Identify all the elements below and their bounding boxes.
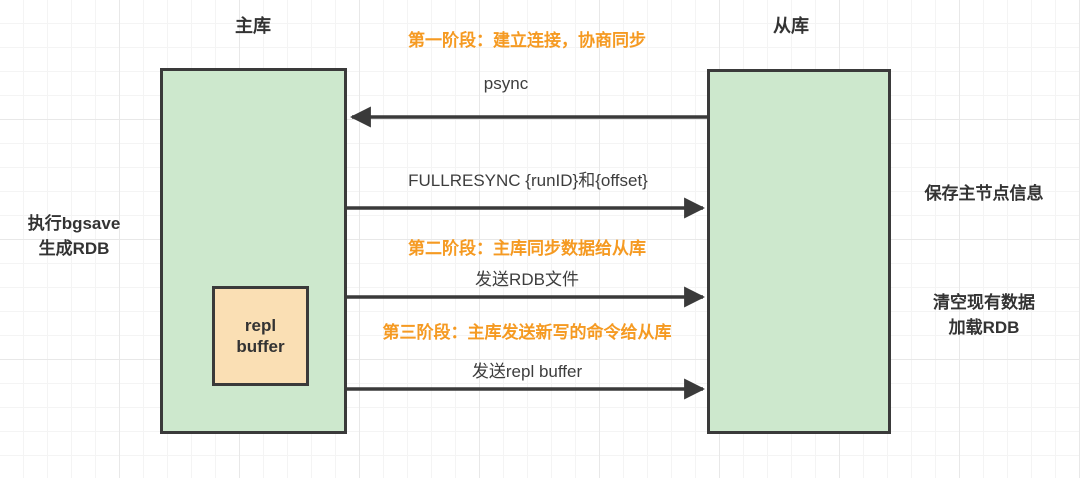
right-note-save-master-info: 保存主节点信息 [894,182,1074,207]
message-psync-label: psync [484,74,528,94]
right-note-flush-load-rdb: 清空现有数据 加载RDB [894,291,1074,340]
slave-node-box [707,69,891,434]
master-node-title: 主库 [235,12,271,38]
stage-1-label: 第一阶段：建立连接，协商同步 [408,26,646,51]
diagram-canvas: 主库 从库 repl buffer 执行bgsave 生成RDB 保存主节点信息… [0,0,1080,478]
left-note-bgsave: 执行bgsave 生成RDB [0,212,149,261]
message-fullresync-label: FULLRESYNC {runID}和{offset} [408,166,648,191]
message-send-rdb-label: 发送RDB文件 [475,265,579,290]
repl-buffer-box: repl buffer [212,286,309,386]
slave-node-title: 从库 [773,12,809,38]
stage-3-label: 第三阶段：主库发送新写的命令给从库 [383,318,672,343]
message-send-repl-buffer-label: 发送repl buffer [472,357,582,382]
stage-2-label: 第二阶段：主库同步数据给从库 [408,234,646,259]
